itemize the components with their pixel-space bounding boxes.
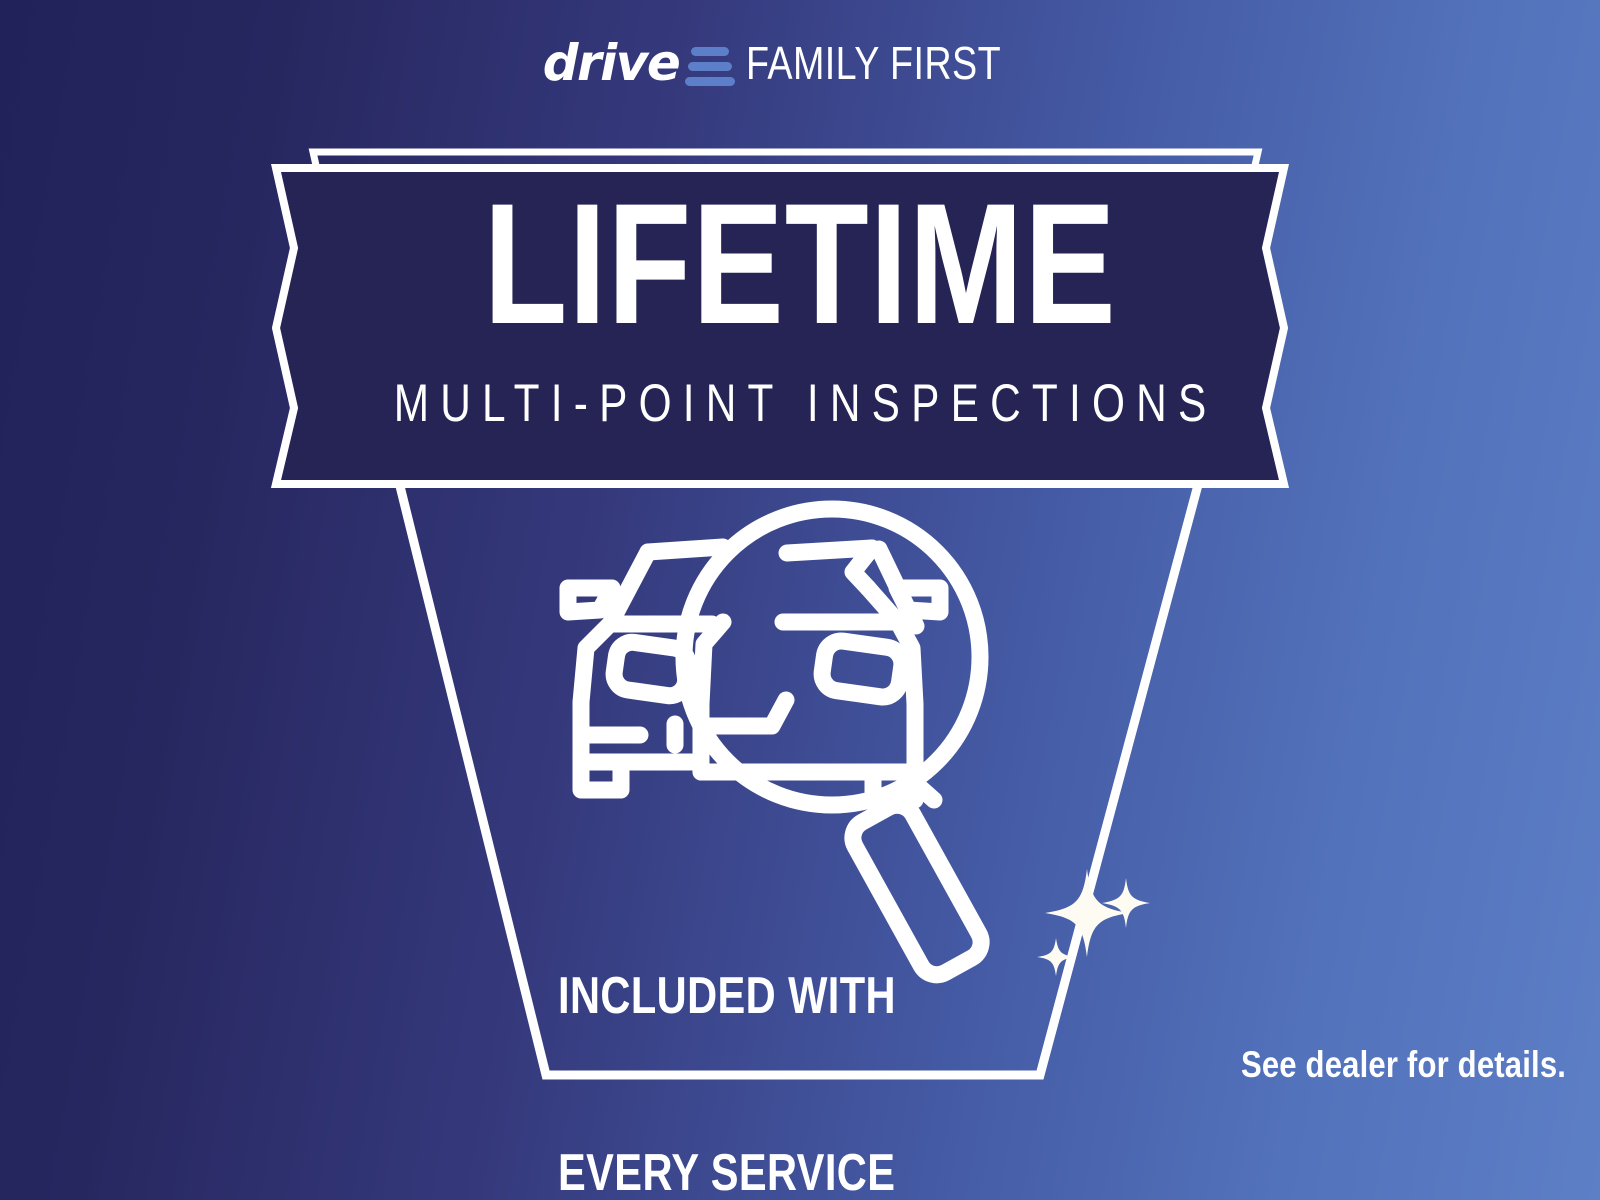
disclaimer-footnote: See dealer for details. [1241,1046,1566,1083]
promo-poster: drive FAMILY FIRST [0,0,1600,1200]
banner-title: LIFETIME [160,181,1440,346]
sparkle-medium [1102,878,1150,928]
badge-caption-line-2: EVERY SERVICE [558,1144,894,1200]
sparkle-large [1045,869,1129,957]
badge-caption-line-1: INCLUDED WITH [558,967,894,1026]
badge-caption: INCLUDED WITH EVERY SERVICE [558,848,894,1200]
banner-subtitle: MULTI-POINT INSPECTIONS [160,375,1440,431]
